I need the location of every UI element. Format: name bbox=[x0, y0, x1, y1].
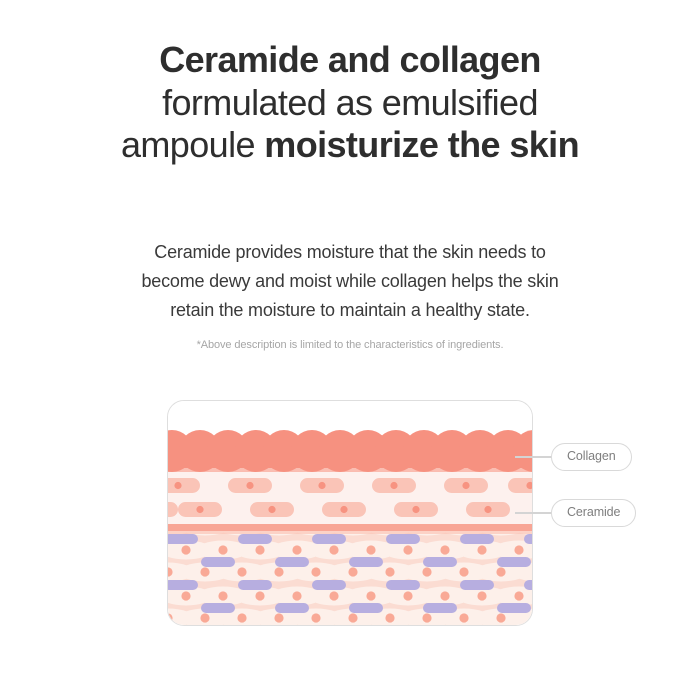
label-ceramide[interactable]: Ceramide bbox=[551, 499, 636, 527]
label-collagen[interactable]: Collagen bbox=[551, 443, 632, 471]
disclaimer-text: *Above description is limited to the cha… bbox=[0, 339, 700, 351]
skin-diagram-card bbox=[167, 400, 533, 626]
page-root: Ceramide and collagen formulated as emul… bbox=[0, 0, 700, 700]
skin-cross-section-illustration bbox=[168, 401, 533, 626]
body-line-3: retain the moisture to maintain a health… bbox=[0, 296, 700, 325]
body-line-1: Ceramide provides moisture that the skin… bbox=[0, 238, 700, 267]
body-line-2: become dewy and moist while collagen hel… bbox=[0, 267, 700, 296]
headline-line-3-bold: moisturize the skin bbox=[264, 124, 579, 165]
callout-ceramide: Ceramide bbox=[515, 499, 636, 527]
headline-line-3-light: ampoule bbox=[121, 124, 264, 165]
skin-diagram bbox=[167, 400, 533, 626]
page-title: Ceramide and collagen formulated as emul… bbox=[0, 39, 700, 166]
headline-line-2: formulated as emulsified bbox=[0, 82, 700, 124]
body-description: Ceramide provides moisture that the skin… bbox=[0, 238, 700, 325]
headline-line-1: Ceramide and collagen bbox=[0, 39, 700, 81]
headline-line-3: ampoule moisturize the skin bbox=[0, 124, 700, 166]
